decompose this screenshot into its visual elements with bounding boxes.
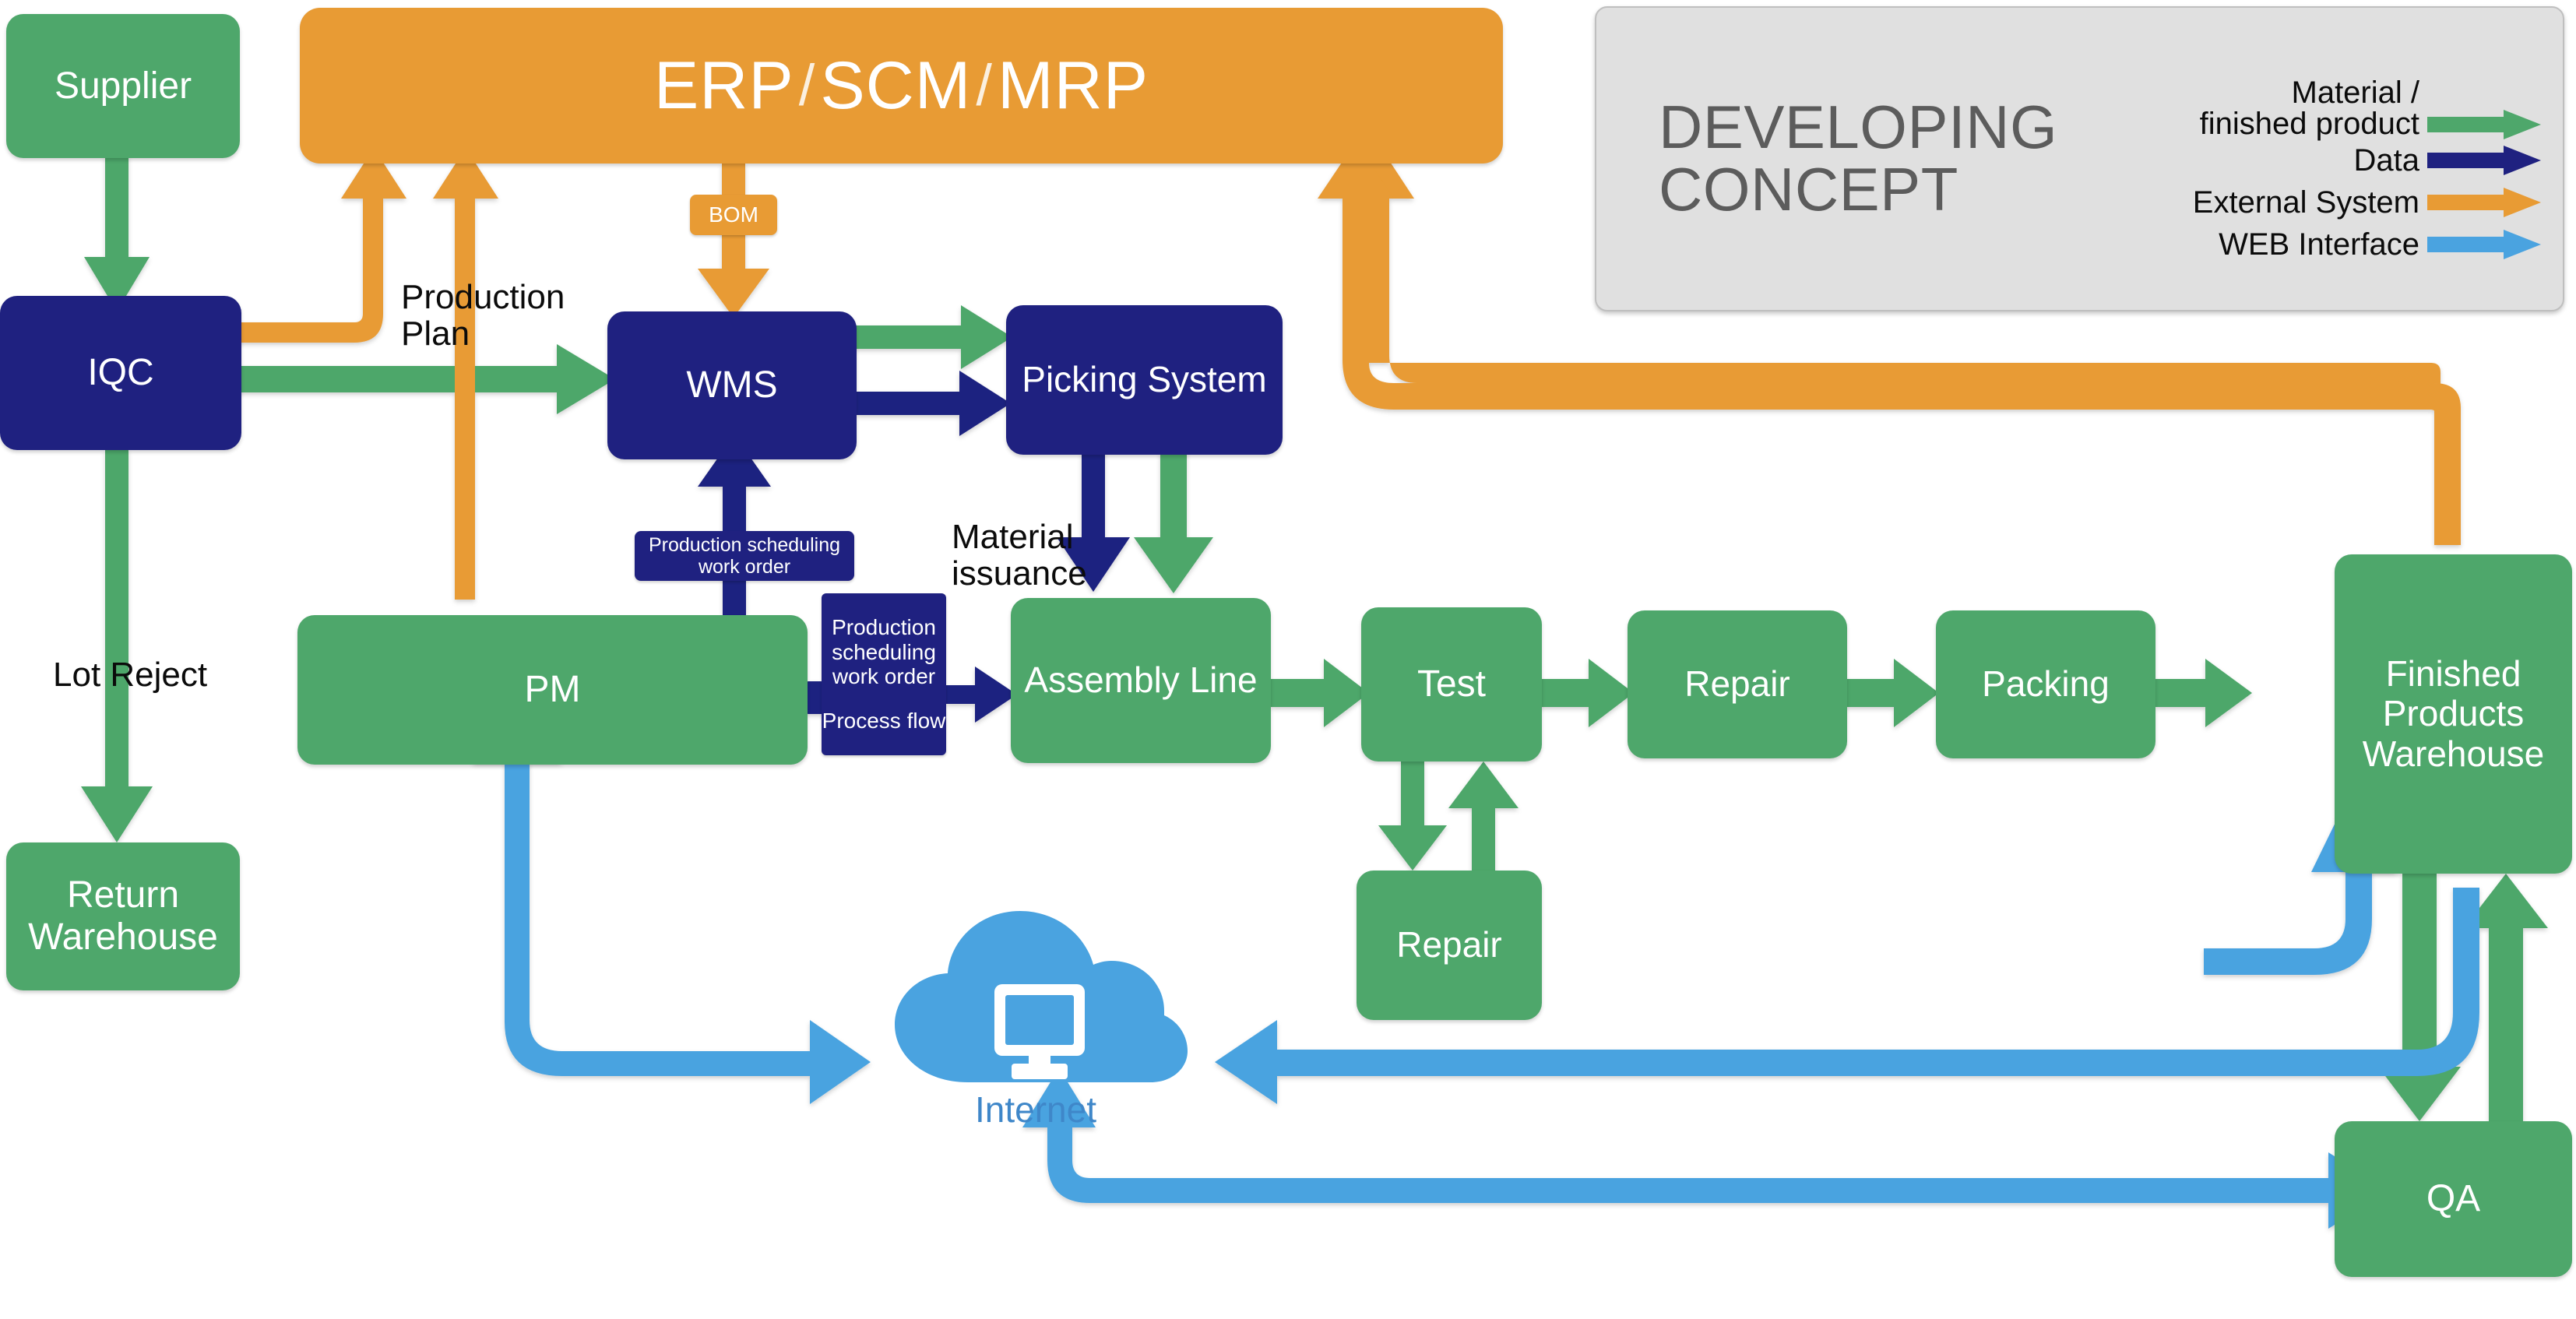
arrow-wms-to-picking-data: [857, 371, 1011, 436]
caption-production-plan-text: Production Plan: [401, 278, 565, 353]
erp-label-scm: SCM: [820, 48, 971, 123]
node-test[interactable]: Test: [1361, 607, 1542, 762]
node-finished-products-warehouse-label: Finished Products Warehouse: [2363, 654, 2545, 775]
erp-separator-1: /: [794, 54, 821, 118]
node-packing[interactable]: Packing: [1936, 610, 2155, 758]
caption-production-plan: Production Plan: [401, 241, 611, 353]
legend-swatch-material-finished-product: [2427, 110, 2541, 139]
legend-swatch-data: [2427, 146, 2541, 175]
chip-pswo-assembly-label: Production scheduling work order: [832, 615, 936, 688]
arrow-test-to-repair-below: [1378, 762, 1447, 871]
node-erp-scm-mrp[interactable]: ERP / SCM / MRP: [300, 8, 1503, 164]
chip-production-scheduling-work-order-assembly: Production scheduling work order Process…: [822, 593, 946, 755]
legend-item-data-label: Data: [2354, 145, 2420, 176]
node-return-warehouse-label: Return Warehouse: [28, 874, 218, 958]
node-wms[interactable]: WMS: [607, 311, 857, 459]
cloud-icon: [876, 903, 1195, 1098]
node-qa-label: QA: [2426, 1178, 2480, 1220]
legend-swatch-web-interface: [2427, 230, 2541, 259]
node-pm[interactable]: PM: [297, 615, 808, 765]
chip-process-flow-label: Process flow: [822, 709, 946, 733]
node-supplier[interactable]: Supplier: [6, 14, 240, 158]
arrow-test-to-repair-inline: [1540, 659, 1634, 727]
node-picking-system-label: Picking System: [1022, 360, 1266, 400]
arrow-workorder-to-assembly: [946, 667, 1017, 723]
erp-separator-2: /: [971, 54, 998, 118]
internet-label-text: Internet: [975, 1089, 1096, 1130]
legend-item-data: Data: [2057, 139, 2541, 181]
legend-item-web-interface-label: WEB Interface: [2219, 229, 2419, 260]
node-picking-system[interactable]: Picking System: [1006, 305, 1283, 455]
node-wms-label: WMS: [686, 364, 777, 406]
legend-panel: DEVELOPING CONCEPT Material / finished p…: [1595, 6, 2564, 311]
arrow-qa-to-internet: [1022, 1068, 2389, 1229]
node-pm-label: PM: [525, 669, 581, 711]
legend-swatch-external-system: [2427, 188, 2541, 217]
internet-label: Internet: [876, 1089, 1195, 1131]
node-qa[interactable]: QA: [2335, 1121, 2572, 1277]
node-assembly-line-label: Assembly Line: [1024, 660, 1257, 701]
legend-item-external-system: External System: [2057, 181, 2541, 223]
node-iqc[interactable]: IQC: [0, 296, 241, 450]
arrow-iqc-to-wms: [234, 344, 615, 414]
node-repair-below-test[interactable]: Repair: [1357, 871, 1542, 1020]
legend-item-external-system-label: External System: [2193, 187, 2419, 218]
arrow-wms-to-picking-material: [853, 305, 1012, 369]
internet-cloud[interactable]: [876, 903, 1195, 1098]
node-finished-products-warehouse[interactable]: Finished Products Warehouse: [2335, 554, 2572, 874]
erp-label-erp: ERP: [654, 48, 794, 123]
node-repair-inline[interactable]: Repair: [1628, 610, 1847, 758]
arrow-pm-to-wms: [698, 434, 771, 615]
erp-label-mrp: MRP: [998, 48, 1149, 123]
arrow-erp-to-wms: [698, 164, 769, 318]
legend-rows: Material / finished product Data Externa…: [2057, 52, 2563, 266]
legend-title: DEVELOPING CONCEPT: [1596, 97, 2057, 220]
node-assembly-line[interactable]: Assembly Line: [1011, 598, 1271, 763]
chip-bom: BOM: [690, 195, 777, 235]
chip-pswo-wms-label: Production scheduling work order: [649, 534, 840, 578]
chip-production-scheduling-work-order-wms: Production scheduling work order: [635, 531, 854, 581]
legend-item-web-interface: WEB Interface: [2057, 223, 2541, 266]
chip-bom-label: BOM: [709, 202, 758, 227]
node-packing-label: Packing: [1982, 664, 2110, 705]
arrow-fpw-to-qa: [2378, 874, 2461, 1121]
arrow-supplier-to-iqc: [84, 156, 150, 311]
legend-item-material-finished-product: Material / finished product: [2057, 52, 2541, 139]
node-repair-below-test-label: Repair: [1396, 925, 1502, 966]
node-return-warehouse[interactable]: Return Warehouse: [6, 842, 240, 990]
diagram-canvas: Supplier IQC Return Warehouse ERP / SCM …: [0, 0, 2576, 1319]
caption-lot-reject: Lot Reject: [53, 619, 302, 693]
node-repair-inline-label: Repair: [1684, 664, 1790, 705]
node-test-label: Test: [1417, 663, 1486, 705]
arrow-assembly-to-test: [1271, 659, 1369, 727]
arrow-packing-to-fpw: [2155, 659, 2252, 727]
arrow-iqc-to-erp: [234, 148, 406, 343]
caption-material-issuance-text: Material issuance: [952, 518, 1087, 593]
legend-item-material-finished-product-label: Material / finished product: [2200, 77, 2419, 139]
arrow-pm-to-internet: [472, 710, 871, 1104]
caption-lot-reject-text: Lot Reject: [53, 656, 207, 694]
node-supplier-label: Supplier: [55, 65, 192, 107]
caption-material-issuance: Material issuance: [952, 481, 1185, 593]
node-iqc-label: IQC: [87, 352, 153, 394]
arrow-repair-below-to-test: [1448, 762, 1519, 871]
arrow-repair-to-packing: [1846, 659, 1939, 727]
